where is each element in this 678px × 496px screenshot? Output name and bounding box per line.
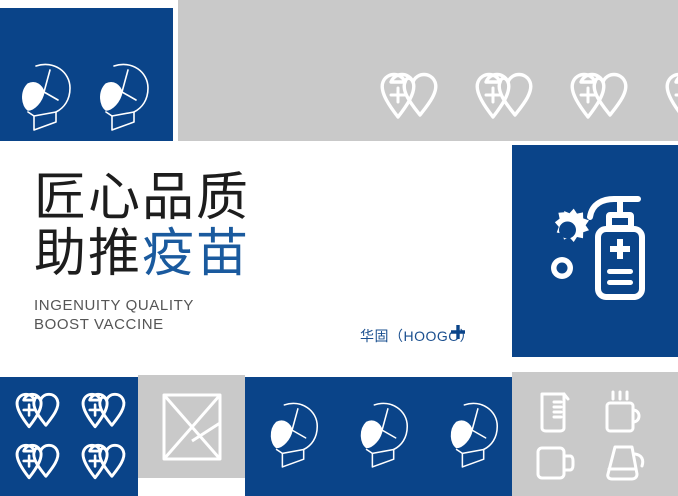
- headline-line-1: 匠心品质: [34, 170, 250, 226]
- heart-pair-plus-icon: [468, 68, 544, 126]
- subtitle-block: INGENUITY QUALITY BOOST VACCINE: [34, 296, 194, 334]
- subtitle-line-2: BOOST VACCINE: [34, 315, 194, 334]
- heart-pair-plus-icon: [76, 440, 134, 485]
- heart-pair-plus-icon: [373, 68, 449, 126]
- masked-head-icon: [92, 58, 156, 134]
- heart-pair-plus-icon: [658, 68, 678, 126]
- top-mask-row: [14, 58, 156, 134]
- masked-head-icon: [263, 397, 325, 471]
- masked-head-icon: [443, 397, 505, 471]
- heart-pair-plus-icon: [563, 68, 639, 126]
- heart-pair-plus-icon: [10, 440, 68, 485]
- sanitizer-icon-group: [534, 185, 656, 315]
- top-blue-mask-panel: [0, 8, 173, 141]
- bottom-masks-panel: [245, 377, 512, 496]
- bottom-cups-panel: [512, 372, 678, 496]
- masked-head-icon: [14, 58, 78, 134]
- top-heart-pair-row: [373, 68, 678, 126]
- plus-icon: [450, 324, 466, 340]
- heart-pair-plus-icon: [76, 389, 134, 434]
- broken-image-panel: [138, 375, 245, 478]
- headline-line-2: 助推疫苗: [34, 226, 250, 282]
- steaming-mug-icon: [602, 390, 648, 434]
- bottom-hearts-panel: [0, 377, 138, 496]
- bottom-heart-pair-grid: [10, 389, 134, 485]
- heart-pair-plus-icon: [10, 389, 68, 434]
- cups-icon-grid: [534, 390, 648, 484]
- headline-line-2-accent: 疫苗: [142, 224, 250, 284]
- subtitle-line-1: INGENUITY QUALITY: [34, 296, 194, 315]
- masked-head-icon: [353, 397, 415, 471]
- kettle-icon: [602, 442, 648, 484]
- mug-icon: [534, 442, 580, 484]
- measuring-beaker-icon: [534, 390, 580, 434]
- headline-block: 匠心品质 助推疫苗: [34, 170, 250, 282]
- poster-canvas: 匠心品质 助推疫苗 INGENUITY QUALITY BOOST VACCIN…: [0, 0, 678, 496]
- headline-panel: 匠心品质 助推疫苗 INGENUITY QUALITY BOOST VACCIN…: [0, 148, 512, 357]
- sanitizer-panel: [512, 145, 678, 357]
- headline-line-2-dark: 助推: [34, 224, 142, 284]
- top-gray-hearts-panel: [178, 0, 678, 141]
- broken-image-placeholder-icon: [162, 393, 222, 461]
- bottom-mask-row: [263, 397, 505, 471]
